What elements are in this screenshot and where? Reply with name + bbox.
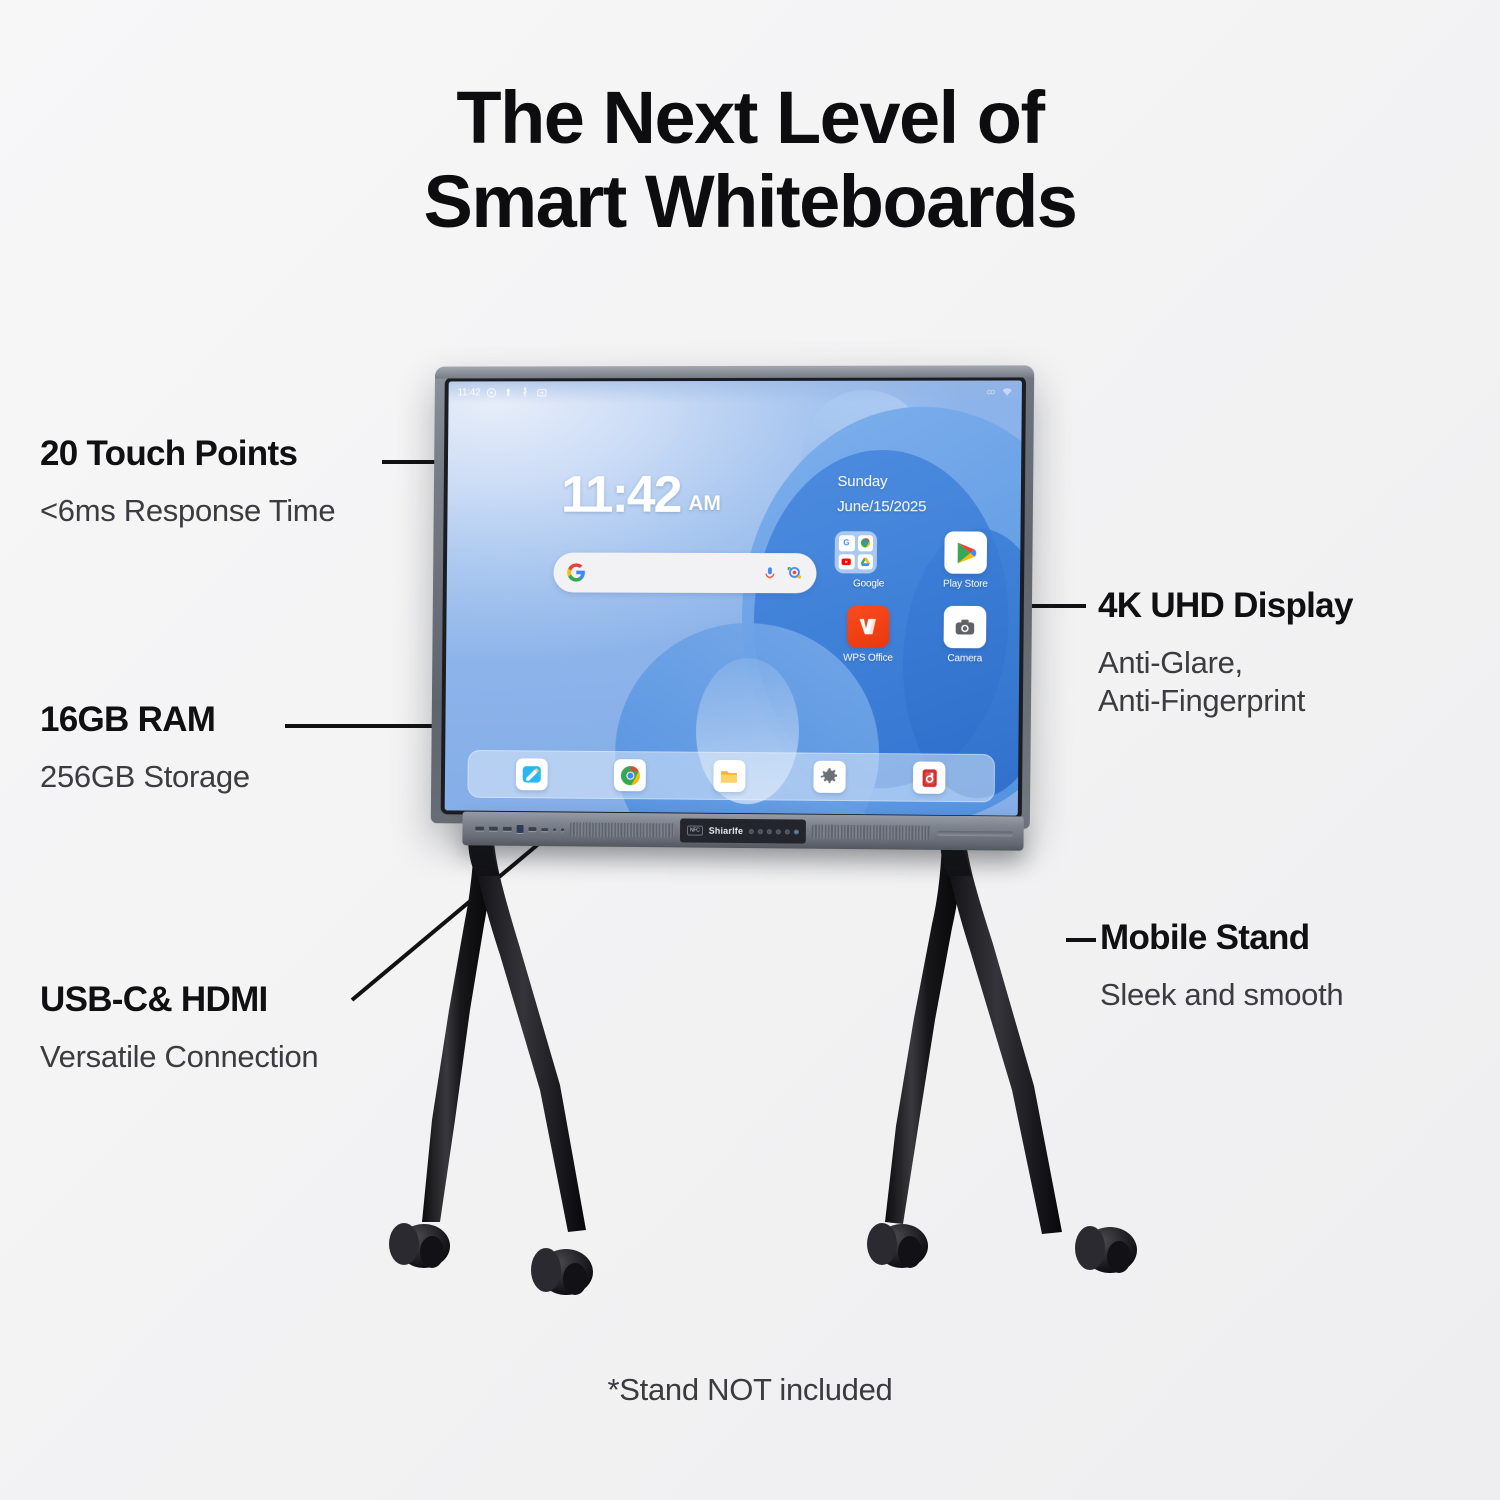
front-control-panel[interactable]: NFC Shiarlfe (680, 818, 806, 843)
caster-rear-right (1075, 1226, 1137, 1273)
speaker-grille-left (570, 822, 674, 837)
audio-jack-1[interactable] (553, 828, 556, 831)
app-label: Google (834, 578, 902, 589)
footnote-disclaimer: *Stand NOT included (0, 1372, 1500, 1408)
clock-ampm: AM (688, 493, 721, 521)
callout-touch-points: 20 Touch Points <6ms Response Time (40, 434, 335, 530)
callout-ports-sub: Versatile Connection (40, 1038, 318, 1076)
title-line-1: The Next Level of (0, 82, 1500, 154)
dock-item-settings[interactable] (813, 761, 845, 793)
date-widget: Sunday June/15/2025 (837, 470, 927, 520)
clock-time: 11:42 (561, 469, 681, 521)
callout-stand-head: Mobile Stand (1100, 918, 1343, 958)
caster-front-left (389, 1223, 450, 1268)
usb-device-icon (503, 387, 514, 398)
home-button[interactable] (776, 829, 781, 834)
app-label: Camera (930, 653, 999, 664)
status-bar-right-icons (985, 386, 1012, 397)
callout-display-sub-line-2: Anti-Fingerprint (1098, 682, 1353, 720)
smart-whiteboard-display: 11:42 (431, 365, 1035, 829)
brand-logo: Shiarlfe (709, 826, 744, 836)
hdmi-port-3[interactable] (503, 827, 512, 831)
callout-ram-sub: 256GB Storage (40, 758, 250, 796)
microphone-icon[interactable] (762, 564, 777, 583)
callout-touch-points-head: 20 Touch Points (40, 434, 335, 474)
back-button[interactable] (785, 829, 790, 834)
search-input[interactable] (594, 573, 754, 574)
callout-ram-head: 16GB RAM (40, 700, 250, 740)
folder-item-chrome (857, 535, 873, 551)
folder-item-google: G (839, 535, 855, 551)
hdmi-port-2[interactable] (489, 827, 498, 831)
date-weekday: Sunday (837, 470, 926, 495)
usb-a-port-2[interactable] (541, 828, 548, 831)
callout-stand: Mobile Stand Sleek and smooth (1100, 918, 1343, 1014)
device-soundbar-chassis: NFC Shiarlfe (462, 812, 1023, 851)
volume-up-button[interactable] (767, 829, 772, 834)
app-label: Play Store (931, 579, 1000, 590)
volume-down-button[interactable] (758, 829, 763, 834)
dock-item-files[interactable] (713, 760, 745, 792)
wps-office-icon (847, 605, 890, 647)
control-buttons[interactable] (749, 829, 799, 834)
home-app-grid: G (834, 531, 1009, 664)
dock-item-screen-lock[interactable] (913, 761, 946, 793)
svg-text:G: G (844, 539, 850, 548)
dock-item-chrome[interactable] (614, 759, 646, 791)
callout-ports-head: USB-C& HDMI (40, 980, 318, 1020)
nfc-label: NFC (687, 826, 703, 836)
callout-display: 4K UHD Display Anti-Glare, Anti-Fingerpr… (1098, 586, 1353, 720)
screencast-icon (537, 387, 548, 398)
home-dock (467, 750, 995, 802)
infographic-canvas: The Next Level of Smart Whiteboards 20 T… (0, 0, 1500, 1500)
callout-touch-points-sub: <6ms Response Time (40, 492, 335, 530)
status-bar-clock: 11:42 (457, 387, 480, 398)
audio-jack-2[interactable] (561, 828, 564, 831)
date-value: June/15/2025 (837, 495, 926, 520)
folder-item-drive (857, 554, 873, 570)
mount-slot (937, 830, 1014, 836)
clock-readout: 11:42 AM (561, 469, 721, 521)
usb-icon (520, 387, 531, 398)
compass-icon (486, 387, 497, 398)
google-folder-icon: G (835, 531, 878, 573)
home-clock-widget: 11:42 AM (561, 469, 721, 521)
callout-display-head: 4K UHD Display (1098, 586, 1353, 626)
callout-ports: USB-C& HDMI Versatile Connection (40, 980, 318, 1076)
callout-ram: 16GB RAM 256GB Storage (40, 700, 250, 796)
callout-stand-sub: Sleek and smooth (1100, 976, 1343, 1014)
app-label: WPS Office (834, 653, 902, 664)
link-icon (985, 386, 996, 397)
title-line-2: Smart Whiteboards (0, 166, 1500, 238)
caster-rear-left (531, 1248, 593, 1295)
dock-item-whiteboard[interactable] (516, 758, 548, 790)
display-screen[interactable]: 11:42 (445, 380, 1022, 815)
app-icon-camera[interactable]: Camera (930, 606, 999, 665)
stand-left-leg-rear (472, 842, 586, 1232)
google-search-bar[interactable] (553, 553, 816, 594)
io-port-row[interactable] (462, 824, 564, 833)
speaker-grille-right (812, 825, 931, 840)
play-store-icon (944, 531, 987, 573)
wifi-icon (1002, 386, 1013, 397)
camera-icon (944, 606, 987, 648)
google-g-icon (566, 563, 586, 583)
stand-right-leg-rear (944, 842, 1062, 1234)
page-title: The Next Level of Smart Whiteboards (0, 82, 1500, 238)
callout-display-sub-line-1: Anti-Glare, (1098, 644, 1353, 682)
app-icon-wps-office[interactable]: WPS Office (834, 605, 903, 664)
hdmi-port-1[interactable] (475, 827, 484, 831)
display-bezel: 11:42 (431, 365, 1035, 829)
google-lens-icon[interactable] (785, 564, 803, 582)
status-bar: 11:42 (449, 380, 1022, 403)
callout-display-sub: Anti-Glare, Anti-Fingerprint (1098, 644, 1353, 720)
usb-c-port[interactable] (517, 825, 524, 833)
caster-front-right (867, 1223, 928, 1268)
power-button[interactable] (749, 829, 754, 834)
folder-item-youtube (839, 554, 855, 570)
stand-left-leg-front (422, 842, 492, 1222)
usb-a-port-1[interactable] (528, 827, 536, 831)
app-icon-play-store[interactable]: Play Store (931, 531, 1000, 590)
settings-button[interactable] (794, 829, 799, 834)
app-icon-google-folder[interactable]: G (834, 531, 903, 589)
stand-right-leg-front (885, 842, 962, 1224)
